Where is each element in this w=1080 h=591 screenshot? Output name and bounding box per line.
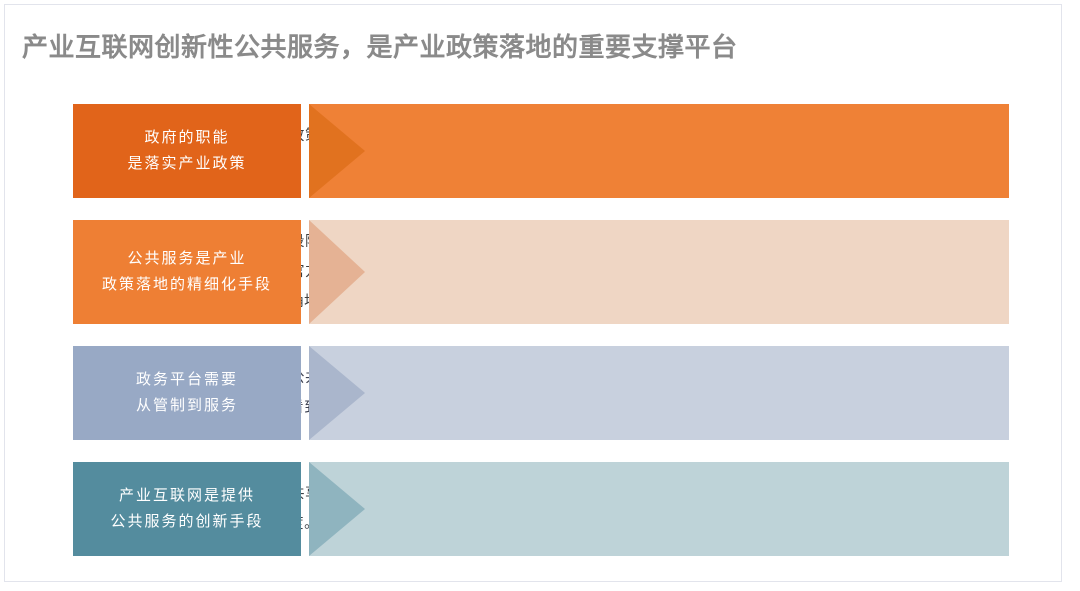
page-title: 产业互联网创新性公共服务，是产业政策落地的重要支撑平台 <box>22 27 738 64</box>
row-label-text: 公共服务是产业 政策落地的精细化手段 <box>102 246 272 298</box>
process-row-row-government-platform[interactable]: 政务平台需要 从管制到服务 很多地方已经开始提供公共政务平台，但是政务管理系统和… <box>73 346 1009 440</box>
row-label-text: 政务平台需要 从管制到服务 <box>136 367 238 419</box>
row-body-panel <box>309 220 1009 324</box>
row-label-block[interactable]: 公共服务是产业 政策落地的精细化手段 <box>73 220 301 324</box>
row-label-block[interactable]: 政务平台需要 从管制到服务 <box>73 346 301 440</box>
process-row-list: 政府的职能 是落实产业政策 政府的职能是利用产业政策进行产业孵化，推动企业成长。… <box>73 104 1009 556</box>
process-row-row-government-function[interactable]: 政府的职能 是落实产业政策 政府的职能是利用产业政策进行产业孵化，推动企业成长。… <box>73 104 1009 198</box>
arrow-right-icon <box>309 220 369 324</box>
arrow-right-icon <box>309 462 369 556</box>
process-row-row-public-service-means[interactable]: 公共服务是产业 政策落地的精细化手段 政府落实产业政策的手段除了传统的调控杠杆以… <box>73 220 1009 324</box>
slide-canvas: 产业互联网创新性公共服务，是产业政策落地的重要支撑平台 政府的职能 是落实产业政… <box>4 4 1062 582</box>
row-label-text: 产业互联网是提供 公共服务的创新手段 <box>110 483 263 535</box>
row-spacer <box>73 198 1009 220</box>
row-body-panel <box>309 104 1009 198</box>
row-label-block[interactable]: 产业互联网是提供 公共服务的创新手段 <box>73 462 301 556</box>
row-body-panel <box>309 462 1009 556</box>
row-spacer <box>73 324 1009 346</box>
row-body-panel <box>309 346 1009 440</box>
row-spacer <box>73 440 1009 462</box>
arrow-right-icon <box>309 346 369 440</box>
arrow-right-icon <box>309 104 369 198</box>
row-label-text: 政府的职能 是落实产业政策 <box>127 125 246 177</box>
process-row-row-industrial-internet[interactable]: 产业互联网是提供 公共服务的创新手段 产业互联网希望在一个共享的平台上完成企业经… <box>73 462 1009 556</box>
row-label-block[interactable]: 政府的职能 是落实产业政策 <box>73 104 301 198</box>
